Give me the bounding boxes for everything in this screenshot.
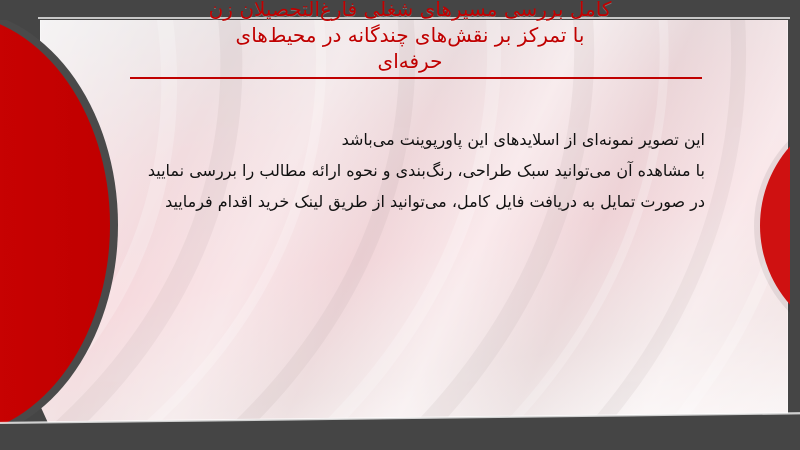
title-divider-rule [130, 77, 702, 79]
slide-title-line-2: با تمرکز بر نقش‌های چندگانه در محیط‌های [110, 22, 710, 48]
slide-content-panel [40, 18, 788, 430]
slide-title: کامل بررسی مسیرهای شغلی فارغ‌التحصیلان ز… [110, 0, 710, 74]
presentation-slide: کامل بررسی مسیرهای شغلی فارغ‌التحصیلان ز… [0, 0, 800, 450]
right-dark-edge [790, 0, 800, 450]
slide-body-line-1: این تصویر نمونه‌ای از اسلایدهای این پاور… [85, 124, 705, 155]
slide-body-line-3: در صورت تمایل به دریافت فایل کامل، می‌تو… [85, 186, 705, 217]
slide-body-line-2: با مشاهده آن می‌توانید سبک طراحی، رنگ‌بن… [85, 155, 705, 186]
slide-body-text: این تصویر نمونه‌ای از اسلایدهای این پاور… [85, 124, 705, 217]
slide-title-line-3: حرفه‌ای [110, 48, 710, 74]
slide-title-line-1: کامل بررسی مسیرهای شغلی فارغ‌التحصیلان ز… [110, 0, 710, 22]
background-arc-pattern [40, 18, 788, 430]
